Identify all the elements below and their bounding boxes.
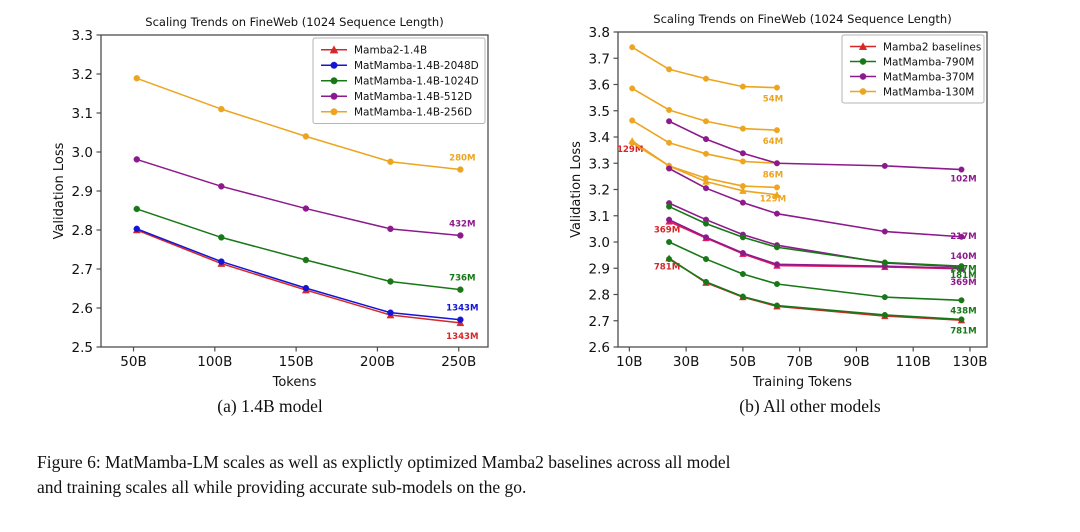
series-end-annotation: 781M xyxy=(950,326,977,336)
series-end-annotation: 438M xyxy=(950,306,977,316)
series-marker xyxy=(387,159,393,165)
series-marker xyxy=(959,297,965,303)
series-end-annotation: 1343M xyxy=(446,304,478,314)
series-line xyxy=(669,207,961,267)
series-marker xyxy=(666,140,672,146)
series-marker xyxy=(457,167,463,173)
x-tick-label: 30B xyxy=(673,354,699,370)
series-marker xyxy=(134,206,140,212)
x-tick-label: 200B xyxy=(360,354,395,370)
y-axis-title: Validation Loss xyxy=(569,141,584,238)
x-tick-label: 50B xyxy=(730,354,756,370)
subcaption-b-text: (b) All other models xyxy=(739,396,880,417)
series-marker xyxy=(740,250,746,256)
series-end-annotation: 129M xyxy=(760,194,787,204)
y-tick-label: 2.6 xyxy=(72,301,93,317)
charts-row: Scaling Trends on FineWeb (1024 Sequence… xyxy=(0,0,1080,396)
series-marker xyxy=(959,263,965,269)
x-tick-label: 100B xyxy=(197,354,232,370)
series-marker xyxy=(303,257,309,263)
series-marker xyxy=(959,317,965,323)
y-tick-label: 2.5 xyxy=(72,340,93,356)
series-marker xyxy=(387,226,393,232)
series-marker xyxy=(740,183,746,189)
series-line xyxy=(632,47,777,87)
y-tick-label: 3.2 xyxy=(72,67,93,83)
series-end-annotation: 432M xyxy=(449,219,476,229)
chart-panel-b: Scaling Trends on FineWeb (1024 Sequence… xyxy=(540,0,1080,396)
series-marker xyxy=(629,118,635,124)
series-end-annotation: 64M xyxy=(763,137,784,147)
y-tick-label: 3.1 xyxy=(72,106,93,122)
y-tick-label: 3.5 xyxy=(589,104,610,120)
series-marker xyxy=(134,75,140,81)
series-marker xyxy=(457,287,463,293)
series-marker xyxy=(629,86,635,92)
series-marker xyxy=(740,200,746,206)
chart-title: Scaling Trends on FineWeb (1024 Sequence… xyxy=(145,15,443,29)
y-tick-label: 2.9 xyxy=(589,261,610,277)
series-marker xyxy=(303,285,309,291)
series-marker xyxy=(666,239,672,245)
series-end-annotation: 736M xyxy=(449,274,476,284)
x-tick-label: 70B xyxy=(786,354,812,370)
legend-entry-label: MatMamba-1.4B-2048D xyxy=(354,60,479,72)
legend-swatch-marker xyxy=(331,62,338,69)
legend-swatch-marker xyxy=(860,88,866,94)
series-marker xyxy=(882,294,888,300)
figure-caption-line-1: Figure 6: MatMamba-LM scales as well as … xyxy=(37,450,1049,475)
subcaption-a: (a) 1.4B model xyxy=(0,396,540,430)
series-marker xyxy=(703,76,709,82)
x-axis-title: Training Tokens xyxy=(752,375,852,390)
series-marker xyxy=(218,183,224,189)
legend-swatch-marker xyxy=(860,73,866,79)
series-marker xyxy=(303,206,309,212)
series-marker xyxy=(774,127,780,133)
series-marker xyxy=(703,221,709,227)
figure-caption: Figure 6: MatMamba-LM scales as well as … xyxy=(37,450,1049,500)
legend-entry-label: MatMamba-370M xyxy=(883,71,974,83)
series-marker xyxy=(740,271,746,277)
series-marker xyxy=(303,133,309,139)
series-marker xyxy=(740,150,746,156)
series-end-annotation: 54M xyxy=(763,95,784,105)
y-tick-label: 2.8 xyxy=(589,288,610,304)
series-marker xyxy=(134,226,140,232)
series-marker xyxy=(774,211,780,217)
series-marker xyxy=(218,234,224,240)
series-marker xyxy=(774,160,780,166)
series-marker xyxy=(774,85,780,91)
series-marker xyxy=(740,84,746,90)
series-marker xyxy=(666,166,672,172)
legend-swatch-marker xyxy=(331,93,338,100)
y-tick-label: 2.6 xyxy=(589,340,610,356)
series-marker xyxy=(882,260,888,266)
series-marker xyxy=(387,310,393,316)
series-marker xyxy=(134,156,140,162)
series-line xyxy=(137,159,461,235)
series-marker xyxy=(666,217,672,223)
y-tick-label: 3.3 xyxy=(589,156,610,172)
series-marker xyxy=(666,118,672,124)
series-line xyxy=(632,88,777,130)
series-marker xyxy=(218,259,224,265)
legend-swatch-marker xyxy=(860,58,866,64)
series-marker xyxy=(774,303,780,309)
series-marker xyxy=(740,159,746,165)
series-marker xyxy=(740,126,746,132)
series-marker xyxy=(629,44,635,50)
series-marker xyxy=(774,281,780,287)
x-tick-label: 50B xyxy=(120,354,146,370)
legend-entry-label: MatMamba-790M xyxy=(883,56,974,68)
legend-entry-label: Mamba2 baselines xyxy=(883,41,981,53)
series-end-annotation: 140M xyxy=(950,252,977,262)
series-line xyxy=(669,121,961,169)
series-end-annotation: 102M xyxy=(950,175,977,185)
series-marker xyxy=(387,278,393,284)
y-tick-label: 3.3 xyxy=(72,28,93,44)
series-marker xyxy=(774,244,780,250)
x-tick-label: 10B xyxy=(616,354,642,370)
x-axis-title: Tokens xyxy=(272,375,317,390)
series-marker xyxy=(703,279,709,285)
legend-swatch-marker xyxy=(331,77,338,84)
x-tick-label: 150B xyxy=(279,354,314,370)
series-end-annotation: 1343M xyxy=(446,332,478,342)
legend: Mamba2 baselinesMatMamba-790MMatMamba-37… xyxy=(842,35,984,103)
x-tick-label: 90B xyxy=(843,354,869,370)
series-marker xyxy=(882,312,888,318)
series-start-annotation: 369M xyxy=(654,226,681,236)
x-tick-label: 110B xyxy=(896,354,931,370)
series-line xyxy=(137,230,461,323)
series-marker xyxy=(882,163,888,169)
series-marker xyxy=(740,294,746,300)
legend: Mamba2-1.4BMatMamba-1.4B-2048DMatMamba-1… xyxy=(313,38,485,124)
series-marker xyxy=(703,175,709,181)
y-tick-label: 2.9 xyxy=(72,184,93,200)
series-marker xyxy=(959,167,965,173)
legend-entry-label: Mamba2-1.4B xyxy=(354,45,427,57)
y-tick-label: 3.8 xyxy=(589,25,610,41)
series-marker xyxy=(774,185,780,191)
legend-entry-label: MatMamba-130M xyxy=(883,86,974,98)
y-tick-label: 2.8 xyxy=(72,223,93,239)
legend-entry-label: MatMamba-1.4B-512D xyxy=(354,91,472,103)
series-end-annotation: 217M xyxy=(950,232,977,242)
series-end-annotation: 181M xyxy=(950,271,977,281)
series-end-annotation: 280M xyxy=(449,154,476,164)
legend-swatch-marker xyxy=(331,108,338,115)
y-tick-label: 3.0 xyxy=(589,235,610,251)
series-end-annotation: 86M xyxy=(763,170,784,180)
x-tick-label: 130B xyxy=(952,354,987,370)
series-line xyxy=(137,229,461,320)
y-tick-label: 2.7 xyxy=(72,262,93,278)
subcaption-b: (b) All other models xyxy=(540,396,1080,430)
series-marker xyxy=(703,151,709,157)
series-marker xyxy=(703,118,709,124)
series-marker xyxy=(218,106,224,112)
series-marker xyxy=(666,107,672,113)
series-marker xyxy=(882,229,888,235)
series-marker xyxy=(703,234,709,240)
series-marker xyxy=(703,136,709,142)
figure-6: Scaling Trends on FineWeb (1024 Sequence… xyxy=(0,0,1080,532)
figure-caption-line-2: and training scales all while providing … xyxy=(37,475,1049,500)
y-tick-label: 3.2 xyxy=(589,183,610,199)
legend-entry-label: MatMamba-1.4B-1024D xyxy=(354,76,479,88)
series-marker xyxy=(666,66,672,72)
y-tick-label: 3.0 xyxy=(72,145,93,161)
series-marker xyxy=(666,256,672,262)
series-marker xyxy=(740,234,746,240)
y-tick-label: 2.7 xyxy=(589,314,610,330)
legend-entry-label: MatMamba-1.4B-256D xyxy=(354,107,472,119)
chart-title: Scaling Trends on FineWeb (1024 Sequence… xyxy=(653,12,951,26)
series-marker xyxy=(629,140,635,146)
subcaptions: (a) 1.4B model (b) All other models xyxy=(0,396,1080,430)
y-tick-label: 3.7 xyxy=(589,51,610,67)
y-tick-label: 3.6 xyxy=(589,78,610,94)
series-line xyxy=(669,203,961,267)
series-marker xyxy=(703,256,709,262)
y-tick-label: 3.1 xyxy=(589,209,610,225)
series-marker xyxy=(457,232,463,238)
series-marker xyxy=(666,204,672,210)
series-marker xyxy=(457,317,463,323)
y-tick-label: 3.4 xyxy=(589,130,610,146)
panel-a-plot: Scaling Trends on FineWeb (1024 Sequence… xyxy=(0,0,540,396)
series-marker xyxy=(774,262,780,268)
series-marker xyxy=(703,185,709,191)
chart-panel-a: Scaling Trends on FineWeb (1024 Sequence… xyxy=(0,0,540,396)
y-axis-title: Validation Loss xyxy=(52,142,67,239)
x-tick-label: 250B xyxy=(441,354,476,370)
subcaption-a-text: (a) 1.4B model xyxy=(217,396,322,417)
panel-b-plot: Scaling Trends on FineWeb (1024 Sequence… xyxy=(540,0,1080,396)
